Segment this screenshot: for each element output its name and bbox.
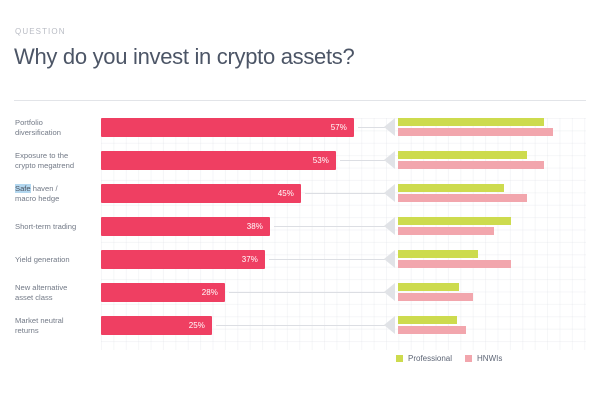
category-label: Short-term trading	[15, 222, 99, 232]
connector-line	[269, 259, 385, 260]
legend-label-hnwis: HNWIs	[477, 354, 502, 363]
chart-legend: Professional HNWIs	[396, 354, 502, 363]
overall-bar[interactable]: 25%	[101, 316, 212, 335]
bar-value-label: 57%	[331, 118, 347, 137]
overall-bar[interactable]: 28%	[101, 283, 225, 302]
chart-page: QUESTION Why do you invest in crypto ass…	[0, 0, 600, 404]
chart-row: Exposure to thecrypto megatrend53%	[0, 143, 600, 176]
chart-row: Safe haven /macro hedge45%	[0, 176, 600, 209]
page-title: Why do you invest in crypto assets?	[14, 44, 354, 70]
bar-value-label: 53%	[313, 151, 329, 170]
chart-row: Yield generation37%	[0, 242, 600, 275]
professional-bar[interactable]	[398, 217, 511, 225]
connector-line	[229, 292, 385, 293]
legend-swatch-hnwis	[465, 355, 472, 362]
professional-bar[interactable]	[398, 316, 457, 324]
legend-swatch-professional	[396, 355, 403, 362]
hnwis-bar[interactable]	[398, 326, 466, 334]
hnwis-bar[interactable]	[398, 260, 511, 268]
category-label: Market neutralreturns	[15, 316, 99, 335]
bar-value-label: 25%	[189, 316, 205, 335]
professional-bar[interactable]	[398, 118, 544, 126]
chart-row: Market neutralreturns25%	[0, 308, 600, 341]
overall-bar[interactable]: 57%	[101, 118, 354, 137]
connector-line	[305, 193, 385, 194]
hnwis-bar[interactable]	[398, 128, 553, 136]
kicker-label: QUESTION	[15, 27, 66, 36]
connector-triangle-icon	[384, 250, 395, 268]
legend-item-professional[interactable]: Professional	[396, 354, 452, 363]
bar-value-label: 38%	[247, 217, 263, 236]
overall-bar[interactable]: 37%	[101, 250, 265, 269]
connector-line	[340, 160, 385, 161]
header-divider	[14, 100, 586, 101]
legend-item-hnwis[interactable]: HNWIs	[465, 354, 502, 363]
bar-value-label: 45%	[278, 184, 294, 203]
overall-bar[interactable]: 53%	[101, 151, 336, 170]
hnwis-bar[interactable]	[398, 161, 544, 169]
professional-bar[interactable]	[398, 151, 527, 159]
category-label: New alternativeasset class	[15, 283, 99, 302]
connector-line	[274, 226, 385, 227]
overall-bar[interactable]: 45%	[101, 184, 301, 203]
category-label: Yield generation	[15, 255, 99, 265]
connector-line	[358, 127, 385, 128]
connector-triangle-icon	[384, 217, 395, 235]
chart-row: New alternativeasset class28%	[0, 275, 600, 308]
connector-triangle-icon	[384, 151, 395, 169]
professional-bar[interactable]	[398, 250, 478, 258]
professional-bar[interactable]	[398, 184, 504, 192]
chart-row: Portfoliodiversification57%	[0, 110, 600, 143]
hnwis-bar[interactable]	[398, 227, 494, 235]
bar-value-label: 28%	[202, 283, 218, 302]
professional-bar[interactable]	[398, 283, 459, 291]
connector-triangle-icon	[384, 283, 395, 301]
connector-triangle-icon	[384, 118, 395, 136]
connector-triangle-icon	[384, 316, 395, 334]
hnwis-bar[interactable]	[398, 194, 527, 202]
legend-label-professional: Professional	[408, 354, 452, 363]
category-label: Exposure to thecrypto megatrend	[15, 151, 99, 170]
text-selection-highlight: Safe	[15, 184, 31, 193]
category-label: Safe haven /macro hedge	[15, 184, 99, 203]
connector-line	[216, 325, 385, 326]
connector-triangle-icon	[384, 184, 395, 202]
chart-row: Short-term trading38%	[0, 209, 600, 242]
bar-value-label: 37%	[242, 250, 258, 269]
overall-bar[interactable]: 38%	[101, 217, 270, 236]
category-label: Portfoliodiversification	[15, 118, 99, 137]
hnwis-bar[interactable]	[398, 293, 473, 301]
chart-plot-area: Portfoliodiversification57%Exposure to t…	[0, 110, 600, 355]
